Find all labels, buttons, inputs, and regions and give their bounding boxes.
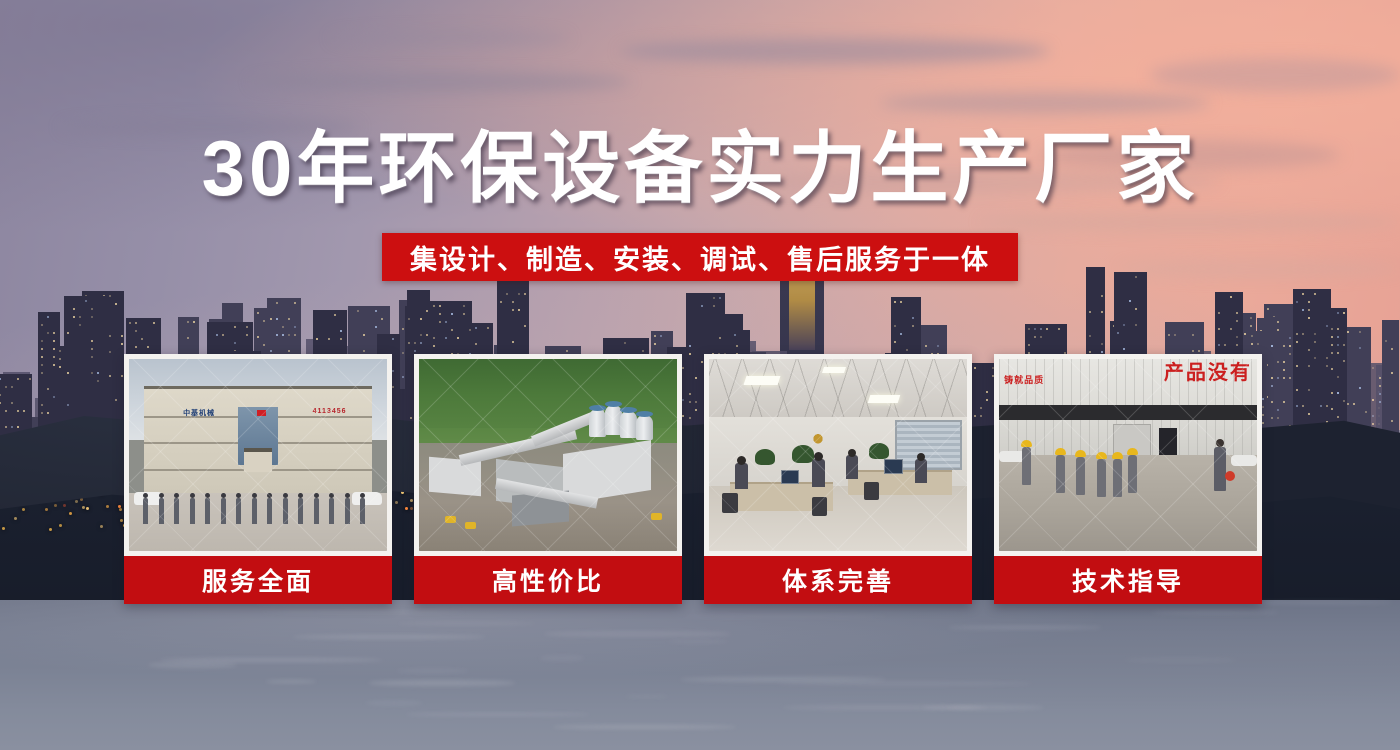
card-caption-text: 体系完善 <box>782 562 894 598</box>
shore-light <box>2 527 5 530</box>
shore-light <box>22 508 25 511</box>
water-reflection-streak <box>398 622 536 625</box>
staff-figure <box>298 498 303 524</box>
shore-light <box>119 508 122 511</box>
water-reflection-streak <box>553 725 736 729</box>
staff-figure <box>236 498 241 524</box>
subtitle-banner: 集设计、制造、安装、调试、售后服务于一体 <box>382 233 1018 281</box>
card-caption: 高性价比 <box>414 556 682 604</box>
shore-light <box>86 507 89 510</box>
feature-card[interactable]: 体系完善 <box>704 354 972 604</box>
staff-figure <box>190 498 195 524</box>
card-caption-text: 服务全面 <box>202 562 314 598</box>
wall-emblem-icon <box>807 428 829 446</box>
water-reflection-streak <box>683 615 887 619</box>
feature-card[interactable]: 产品没有 铸就品质 技术指导 <box>994 354 1262 604</box>
card-caption-text: 技术指导 <box>1072 562 1184 598</box>
shore-light <box>54 504 57 507</box>
shore-light <box>59 524 62 527</box>
page-title: 30年环保设备实力生产厂家 <box>0 128 1400 210</box>
water-reflection-streak <box>260 611 466 614</box>
shore-light <box>82 506 85 509</box>
building-company-sign: 中基机械 <box>183 408 215 418</box>
shore-light <box>49 528 52 531</box>
water-reflection-streak <box>775 682 1033 685</box>
water-reflection-streak <box>540 655 584 660</box>
shore-light <box>106 505 109 508</box>
factory-wall-sign: 产品没有 <box>1164 363 1252 383</box>
water-reflection-streak <box>544 631 729 636</box>
banner-stage: 30年环保设备实力生产厂家 集设计、制造、安装、调试、售后服务于一体 中基机械 … <box>0 0 1400 750</box>
water-reflection-streak <box>292 635 486 639</box>
card-caption: 技术指导 <box>994 556 1262 604</box>
water-reflection-streak <box>396 669 469 673</box>
shore-light <box>63 504 66 507</box>
feature-card[interactable]: 高性价比 <box>414 354 682 604</box>
flag-icon <box>257 410 266 416</box>
water-reflection-streak <box>624 695 669 698</box>
water-reflection-streak <box>405 713 590 716</box>
staff-figure <box>174 498 179 524</box>
water-reflection-streak <box>1152 610 1279 615</box>
water-reflection-streak <box>369 680 515 686</box>
factory-side-sign: 铸就品质 <box>1004 374 1044 388</box>
feature-card[interactable]: 中基机械 4113456 服务全面 <box>124 354 392 604</box>
card-photo-headquarters: 中基机械 4113456 <box>129 359 387 551</box>
water-reflection-streak <box>949 626 1101 629</box>
card-caption: 服务全面 <box>124 556 392 604</box>
card-caption-text: 高性价比 <box>492 562 604 598</box>
staff-figure <box>159 498 164 524</box>
water-reflection-streak <box>782 705 983 710</box>
card-caption: 体系完善 <box>704 556 972 604</box>
card-photo-office-interior <box>709 359 967 551</box>
shore-light <box>75 500 78 503</box>
staff-figure <box>205 498 210 524</box>
staff-figure <box>143 498 148 524</box>
card-photo-worker-lineup: 产品没有 铸就品质 <box>999 359 1257 551</box>
staff-figure <box>329 498 334 524</box>
cloud-streak <box>980 212 1400 232</box>
water-reflection-streak <box>1124 658 1237 663</box>
water-reflection-streak <box>668 640 728 643</box>
shore-light <box>14 517 17 520</box>
shore-light <box>120 519 123 522</box>
staff-figure <box>267 498 272 524</box>
water-reflection-streak <box>365 700 423 706</box>
cloud-streak <box>620 38 1050 64</box>
water-reflection-streak <box>148 662 238 668</box>
river-reflection <box>0 600 1400 750</box>
staff-figure <box>283 498 288 524</box>
staff-figure <box>360 498 365 524</box>
card-photo-plant-aerial <box>419 359 677 551</box>
cloud-streak <box>330 30 570 46</box>
staff-figure <box>221 498 226 524</box>
staff-figure <box>314 498 319 524</box>
water-reflection-streak <box>266 680 316 683</box>
staff-figure <box>252 498 257 524</box>
subtitle-text: 集设计、制造、安装、调试、售后服务于一体 <box>410 238 990 277</box>
cloud-streak <box>250 72 630 92</box>
shore-light <box>45 508 48 511</box>
feature-card-row: 中基机械 4113456 服务全面 <box>124 354 1274 604</box>
shore-light <box>69 512 72 515</box>
staff-figure <box>345 498 350 524</box>
cloud-streak <box>880 92 1210 114</box>
building-phone-sign: 4113456 <box>313 408 347 415</box>
cloud-streak <box>1150 58 1400 92</box>
shore-light <box>100 525 103 528</box>
